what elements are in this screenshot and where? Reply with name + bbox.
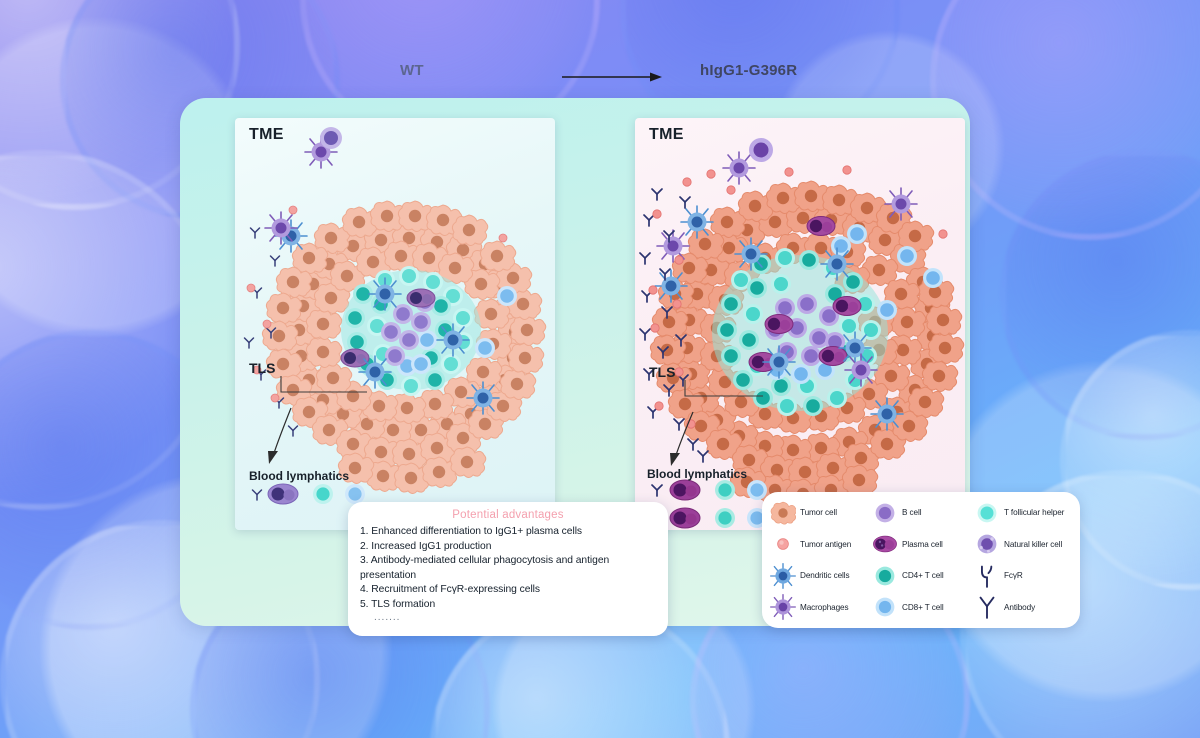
legend-label: Natural killer cell [1004, 540, 1062, 549]
genotype-label-wt: WT [400, 62, 424, 79]
dendritic-cell-icon [770, 563, 796, 589]
advantages-list: 1. Enhanced differentiation to IgG1+ pla… [360, 525, 656, 612]
cd8-t-cell-icon [872, 594, 898, 620]
panel-mutant: TME TLS Blood lymphatics [635, 118, 965, 530]
legend-entry-macrophages: Macrophages [770, 592, 872, 624]
legend-entry-antibody: Antibody [974, 592, 1076, 624]
arrow-right-icon [562, 72, 662, 82]
list-item: 1. Enhanced differentiation to IgG1+ pla… [360, 525, 656, 540]
panel-label-blood-wt: Blood lymphatics [249, 469, 349, 483]
legend-box: Tumor cell B cell T follicular helper Tu… [762, 492, 1080, 628]
b-cell-icon [872, 500, 898, 526]
legend-entry-t-follicular-helper: T follicular helper [974, 497, 1076, 529]
legend-entry-cd8-t-cell: CD8+ T cell [872, 592, 974, 624]
legend-label: FcγR [1004, 571, 1023, 580]
legend-label: Tumor antigen [800, 540, 851, 549]
natural-killer-cell-icon [974, 531, 1000, 557]
blood-lymphatics-arrow [268, 408, 291, 464]
panel-label-tls-mutant: TLS [649, 364, 675, 380]
legend-entry-fcgr: FcγR [974, 560, 1076, 592]
list-item: 3. Antibody-mediated cellular phagocytos… [360, 554, 656, 583]
legend-entry-tumor-antigen: Tumor antigen [770, 529, 872, 561]
legend-label: Plasma cell [902, 540, 943, 549]
genotype-label-mutant: hIgG1-G396R [700, 62, 797, 79]
legend-entry-dendritic-cells: Dendritic cells [770, 560, 872, 592]
panel-title-tme-wt: TME [249, 126, 284, 144]
advantages-ellipsis: ....... [360, 612, 656, 623]
cd4-t-cell-icon [872, 563, 898, 589]
list-item: 4. Recruitment of FcγR-expressing cells [360, 583, 656, 598]
legend-label: Macrophages [800, 603, 849, 612]
panel-label-tls-wt: TLS [249, 360, 275, 376]
tumor-cell-icon [770, 500, 796, 526]
legend-entry-plasma-cell: Plasma cell [872, 529, 974, 561]
tumor-antigen-icon [770, 531, 796, 557]
bokeh-circle [930, 0, 1200, 240]
list-item: 2. Increased IgG1 production [360, 540, 656, 555]
legend-entry-tumor-cell: Tumor cell [770, 497, 872, 529]
t-follicular-helper-icon [974, 500, 1000, 526]
antibody-icon [974, 594, 1000, 620]
list-item: 5. TLS formation [360, 598, 656, 613]
legend-label: CD8+ T cell [902, 603, 944, 612]
legend-label: T follicular helper [1004, 508, 1064, 517]
macrophage-icon [770, 594, 796, 620]
legend-label: Dendritic cells [800, 571, 849, 580]
legend-entry-b-cell: B cell [872, 497, 974, 529]
panel-label-blood-mutant: Blood lymphatics [647, 467, 747, 481]
legend-label: CD4+ T cell [902, 571, 944, 580]
blood-lymphatics-arrow [670, 412, 693, 466]
comparison-header: WT hIgG1-G396R [0, 62, 1200, 98]
blood-lymphatics-row [253, 484, 366, 504]
legend-label: Antibody [1004, 603, 1035, 612]
advantages-title: Potential advantages [360, 509, 656, 521]
legend-label: B cell [902, 508, 921, 517]
legend-entry-cd4-t-cell: CD4+ T cell [872, 560, 974, 592]
legend-entry-natural-killer-cell: Natural killer cell [974, 529, 1076, 561]
legend-label: Tumor cell [800, 508, 837, 517]
panel-wt: TME TLS Blood lymphatics [235, 118, 555, 530]
fcgr-icon [974, 563, 1000, 589]
panel-title-tme-mutant: TME [649, 126, 684, 144]
potential-advantages-box: Potential advantages 1. Enhanced differe… [348, 502, 668, 636]
plasma-cell-icon [872, 531, 898, 557]
blood-lymphatics-row [652, 480, 767, 528]
